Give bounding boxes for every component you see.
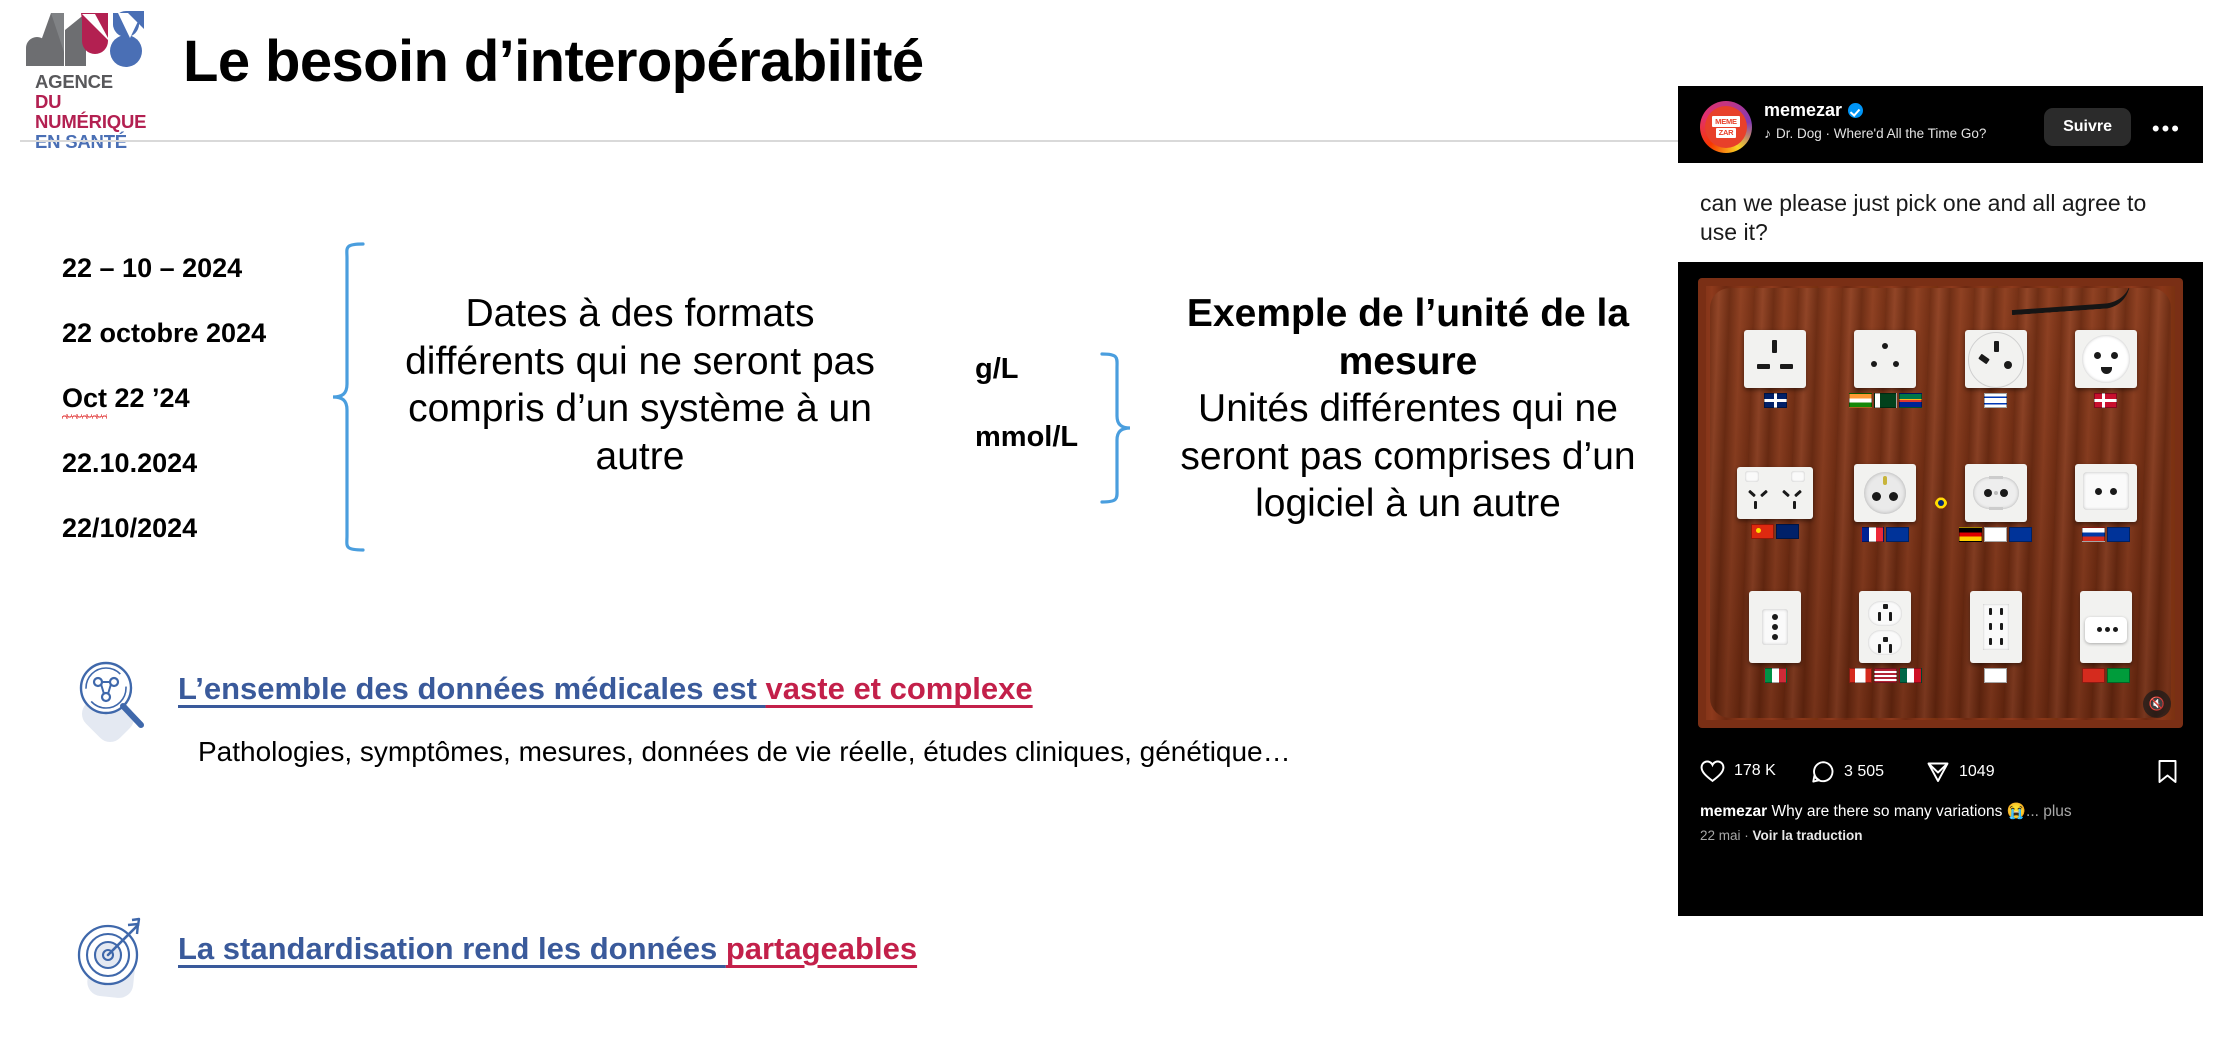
flag-row (1849, 393, 1922, 408)
wooden-board (1710, 288, 2171, 718)
bullet-2-heading: La standardisation rend les données part… (178, 933, 917, 964)
socket-brazil-swiss (2080, 591, 2132, 663)
flag-eu (1886, 527, 1909, 542)
instagram-post-panel: MEME ZAR memezar ♪Dr. Dog · Where'd All … (1678, 86, 2203, 916)
verified-badge-icon (1848, 103, 1863, 118)
socket-denmark (2075, 330, 2137, 388)
unit-item-1: mmol/L (975, 423, 1090, 452)
ans-logo-mark (18, 8, 168, 70)
comment-action[interactable]: 3 505 (1811, 760, 1884, 784)
bullet-1-heading-part2: vaste et complexe (766, 671, 1033, 706)
socket-cell (2051, 570, 2161, 704)
bullet-2-heading-part1: La standardisation rend les données (178, 931, 726, 966)
save-action[interactable] (2156, 759, 2179, 790)
heart-icon (1700, 760, 1725, 783)
comment-count: 3 505 (1844, 763, 1884, 781)
slide-root: AGENCE DU NUMÉRIQUE EN SANTÉ Le besoin d… (0, 0, 2221, 1037)
flag-mexico (1899, 668, 1922, 683)
follow-button[interactable]: Suivre (2044, 108, 2131, 146)
socket-russia (2075, 464, 2137, 522)
flag-france (1861, 527, 1884, 542)
socket-cell (1720, 570, 1830, 704)
target-arrow-icon (68, 915, 153, 1000)
socket-germany (1965, 464, 2027, 522)
flag-israel (1984, 393, 2007, 408)
bookmark-icon (2156, 759, 2179, 785)
post-date: 22 mai (1700, 828, 1741, 843)
caption-text: Why are there so many variations 😭 (1767, 803, 2026, 820)
date-item-1: 22 octobre 2024 (62, 320, 266, 347)
units-heading: Exemple de l’unité de la mesure (1148, 290, 1668, 385)
avatar[interactable]: MEME ZAR (1700, 101, 1752, 153)
flag-russia (2082, 527, 2105, 542)
music-note-icon: ♪ (1764, 125, 1771, 141)
flag-south-korea (1984, 527, 2007, 542)
avatar-label-line1: MEME (1712, 116, 1740, 127)
ans-logo: AGENCE DU NUMÉRIQUE EN SANTÉ (18, 8, 168, 133)
spellcheck-underlined-word: Oct (62, 385, 107, 412)
socket-cell (1941, 570, 2051, 704)
ans-logo-line3: EN SANTÉ (35, 132, 175, 152)
flag-row (1984, 668, 2007, 683)
flag-australia (1776, 524, 1799, 539)
instagram-action-bar: 178 K 3 505 1049 (1678, 746, 2203, 802)
flag-row (1751, 524, 1799, 539)
date-item-4: 22/10/2024 (62, 515, 197, 542)
socket-cell (1941, 302, 2051, 436)
music-title: Dr. Dog · Where'd All the Time Go? (1776, 126, 1986, 141)
bullet-1-heading: L’ensemble des données médicales est vas… (178, 673, 1033, 704)
socket-cell (1720, 436, 1830, 570)
socket-uk (1744, 330, 1806, 388)
flag-japan (1984, 668, 2007, 683)
socket-japan (1970, 591, 2022, 663)
instagram-post-body: can we please just pick one and all agre… (1678, 163, 2203, 262)
flag-south-africa (1899, 393, 1922, 408)
unit-list: g/L mmol/L (975, 355, 1090, 452)
music-attribution[interactable]: ♪Dr. Dog · Where'd All the Time Go? (1764, 125, 1986, 141)
share-count: 1049 (1959, 763, 1995, 781)
flag-india (1849, 393, 1872, 408)
meta-separator: · (1741, 828, 1753, 843)
page-title: Le besoin d’interopérabilité (183, 28, 924, 95)
socket-cell (2051, 302, 2161, 436)
flag-eu (2009, 527, 2032, 542)
caption-username[interactable]: memezar (1700, 803, 1767, 820)
socket-cell (1830, 570, 1940, 704)
instagram-post-header: MEME ZAR memezar ♪Dr. Dog · Where'd All … (1678, 86, 2203, 163)
share-action[interactable]: 1049 (1926, 760, 1995, 784)
date-item-2-rest: 22 ’24 (107, 383, 190, 413)
units-explanation-text: Unités différentes qui ne seront pas com… (1180, 387, 1635, 525)
date-format-list: 22 – 10 – 2024 22 octobre 2024 Oct 22 ’2… (62, 255, 362, 542)
socket-israel (1965, 330, 2027, 388)
post-meta-line: 22 mai · Voir la traduction (1700, 828, 2181, 843)
date-item-3: 22.10.2024 (62, 450, 197, 477)
flag-row (1984, 393, 2007, 408)
flag-germany (1959, 527, 1982, 542)
share-paperplane-icon (1926, 760, 1950, 784)
flag-row (1849, 668, 1922, 683)
flag-row (1959, 527, 2032, 542)
instagram-post-footer: memezar Why are there so many variations… (1678, 802, 2203, 857)
flag-uk (1764, 393, 1787, 408)
caption-more-link[interactable]: ... plus (2026, 803, 2072, 820)
flag-china (1751, 524, 1774, 539)
socket-india (1854, 330, 1916, 388)
bullet-1-subtext: Pathologies, symptômes, mesures, données… (198, 738, 1291, 766)
post-caption-line: memezar Why are there so many variations… (1700, 802, 2181, 822)
flag-denmark (2094, 393, 2117, 408)
mute-audio-icon[interactable]: 🔇 (2143, 690, 2171, 718)
curly-brace-dates (330, 242, 378, 552)
flag-row (2094, 393, 2117, 408)
like-count: 178 K (1734, 762, 1776, 780)
socket-cell (1941, 436, 2051, 570)
comment-icon (1811, 760, 1835, 784)
see-translation-link[interactable]: Voir la traduction (1753, 828, 1863, 843)
bullet-2-heading-part2: partageables (726, 931, 917, 966)
flag-row (1861, 527, 1909, 542)
post-overlay-caption: can we please just pick one and all agre… (1700, 189, 2181, 248)
post-image-sockets[interactable]: 🔇 (1698, 278, 2183, 728)
curly-brace-units (1097, 352, 1141, 504)
ans-logo-line1: AGENCE (35, 72, 175, 92)
units-explanation-block: Exemple de l’unité de la mesure Unités d… (1148, 290, 1668, 528)
flag-brazil (2107, 668, 2130, 683)
flag-usa (1874, 668, 1897, 683)
socket-italy (1749, 591, 1801, 663)
ans-logo-line2: DU NUMÉRIQUE (35, 92, 175, 132)
avatar-label-line2: ZAR (1716, 128, 1737, 139)
socket-cell (1720, 302, 1830, 436)
flag-row (1764, 393, 1787, 408)
flag-italy (1764, 668, 1787, 683)
flag-switzerland (2082, 668, 2105, 683)
magnifier-share-icon (68, 655, 153, 740)
like-action[interactable]: 178 K (1700, 760, 1776, 783)
socket-cell (2051, 436, 2161, 570)
socket-grid (1710, 288, 2171, 718)
flag-pakistan (1874, 393, 1897, 408)
flag-row (2082, 527, 2130, 542)
more-options-icon[interactable]: ••• (2152, 116, 2181, 142)
socket-cell (1830, 436, 1940, 570)
flag-row (2082, 668, 2130, 683)
socket-china-australia (1737, 467, 1813, 519)
flag-canada (1849, 668, 1872, 683)
date-item-2: Oct 22 ’24 (62, 385, 190, 412)
socket-cell (1830, 302, 1940, 436)
account-name[interactable]: memezar (1764, 100, 1863, 121)
socket-france (1854, 464, 1916, 522)
flag-eu (2107, 527, 2130, 542)
account-name-text: memezar (1764, 100, 1842, 120)
flag-row (1764, 668, 1787, 683)
socket-usa (1859, 591, 1911, 663)
unit-item-0: g/L (975, 355, 1090, 384)
bullet-1-heading-part1: L’ensemble des données médicales est (178, 671, 766, 706)
date-item-0: 22 – 10 – 2024 (62, 255, 242, 282)
dates-explanation-text: Dates à des formats différents qui ne se… (400, 290, 880, 480)
